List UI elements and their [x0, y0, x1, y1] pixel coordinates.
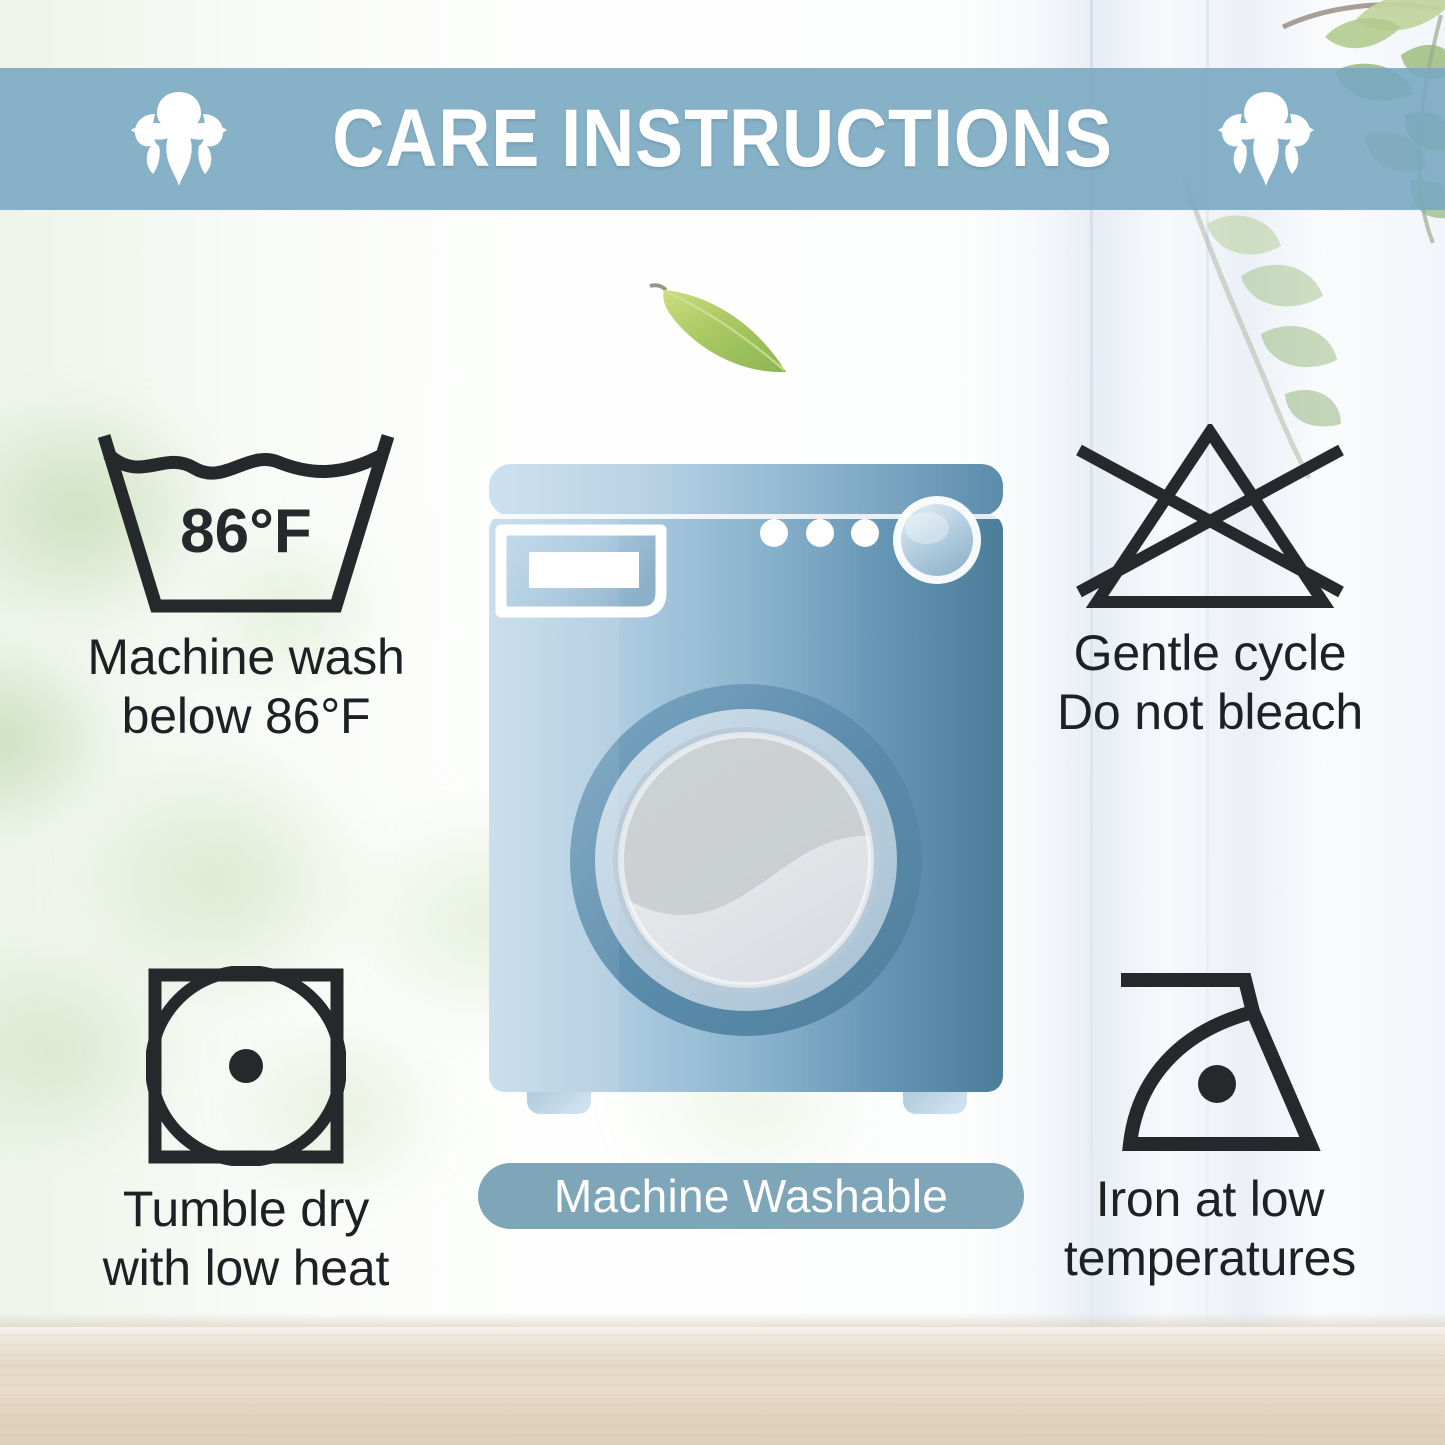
washer-door: [570, 684, 922, 1036]
care-symbol-label-machine-wash: Machine wash below 86°F: [87, 628, 404, 746]
care-symbol-label-tumble-dry: Tumble dry with low heat: [103, 1180, 389, 1298]
washer-control-knob: [893, 496, 981, 584]
indicator-light-1: [760, 519, 788, 547]
care-symbol-label-do-not-bleach: Gentle cycle Do not bleach: [1057, 624, 1363, 742]
indicator-light-3: [851, 519, 879, 547]
care-symbol-label-iron-low: Iron at low temperatures: [1064, 1170, 1356, 1288]
wash-temperature-value: 86°F: [180, 497, 312, 566]
triangle-crossed-out-icon: [1065, 424, 1355, 610]
wash-tub-icon: 86°F: [96, 428, 396, 614]
table-front-edge: [0, 1313, 1445, 1327]
washing-machine-illustration: [485, 452, 1007, 1142]
care-symbol-do-not-bleach: Gentle cycle Do not bleach: [1000, 424, 1420, 742]
care-symbol-iron-low: Iron at low temperatures: [1000, 966, 1420, 1288]
floating-leaf-icon: [636, 268, 806, 388]
table-wood-grain: [0, 1327, 1445, 1445]
fleur-de-lis-left-icon: [119, 84, 239, 194]
care-symbol-tumble-dry: Tumble dry with low heat: [36, 966, 456, 1298]
machine-washable-badge: Machine Washable: [478, 1163, 1024, 1229]
care-symbol-machine-wash: 86°F Machine wash below 86°F: [36, 428, 456, 746]
machine-washable-badge-text: Machine Washable: [554, 1173, 948, 1219]
care-instructions-infographic: CARE INSTRUCTIONS: [0, 0, 1445, 1445]
indicator-light-2: [806, 519, 834, 547]
header-banner: CARE INSTRUCTIONS: [0, 68, 1445, 210]
fleur-de-lis-right-icon: [1206, 84, 1326, 194]
iron-one-dot-icon: [1085, 966, 1335, 1156]
page-title: CARE INSTRUCTIONS: [332, 98, 1113, 180]
tumble-dry-low-icon: [146, 966, 346, 1166]
